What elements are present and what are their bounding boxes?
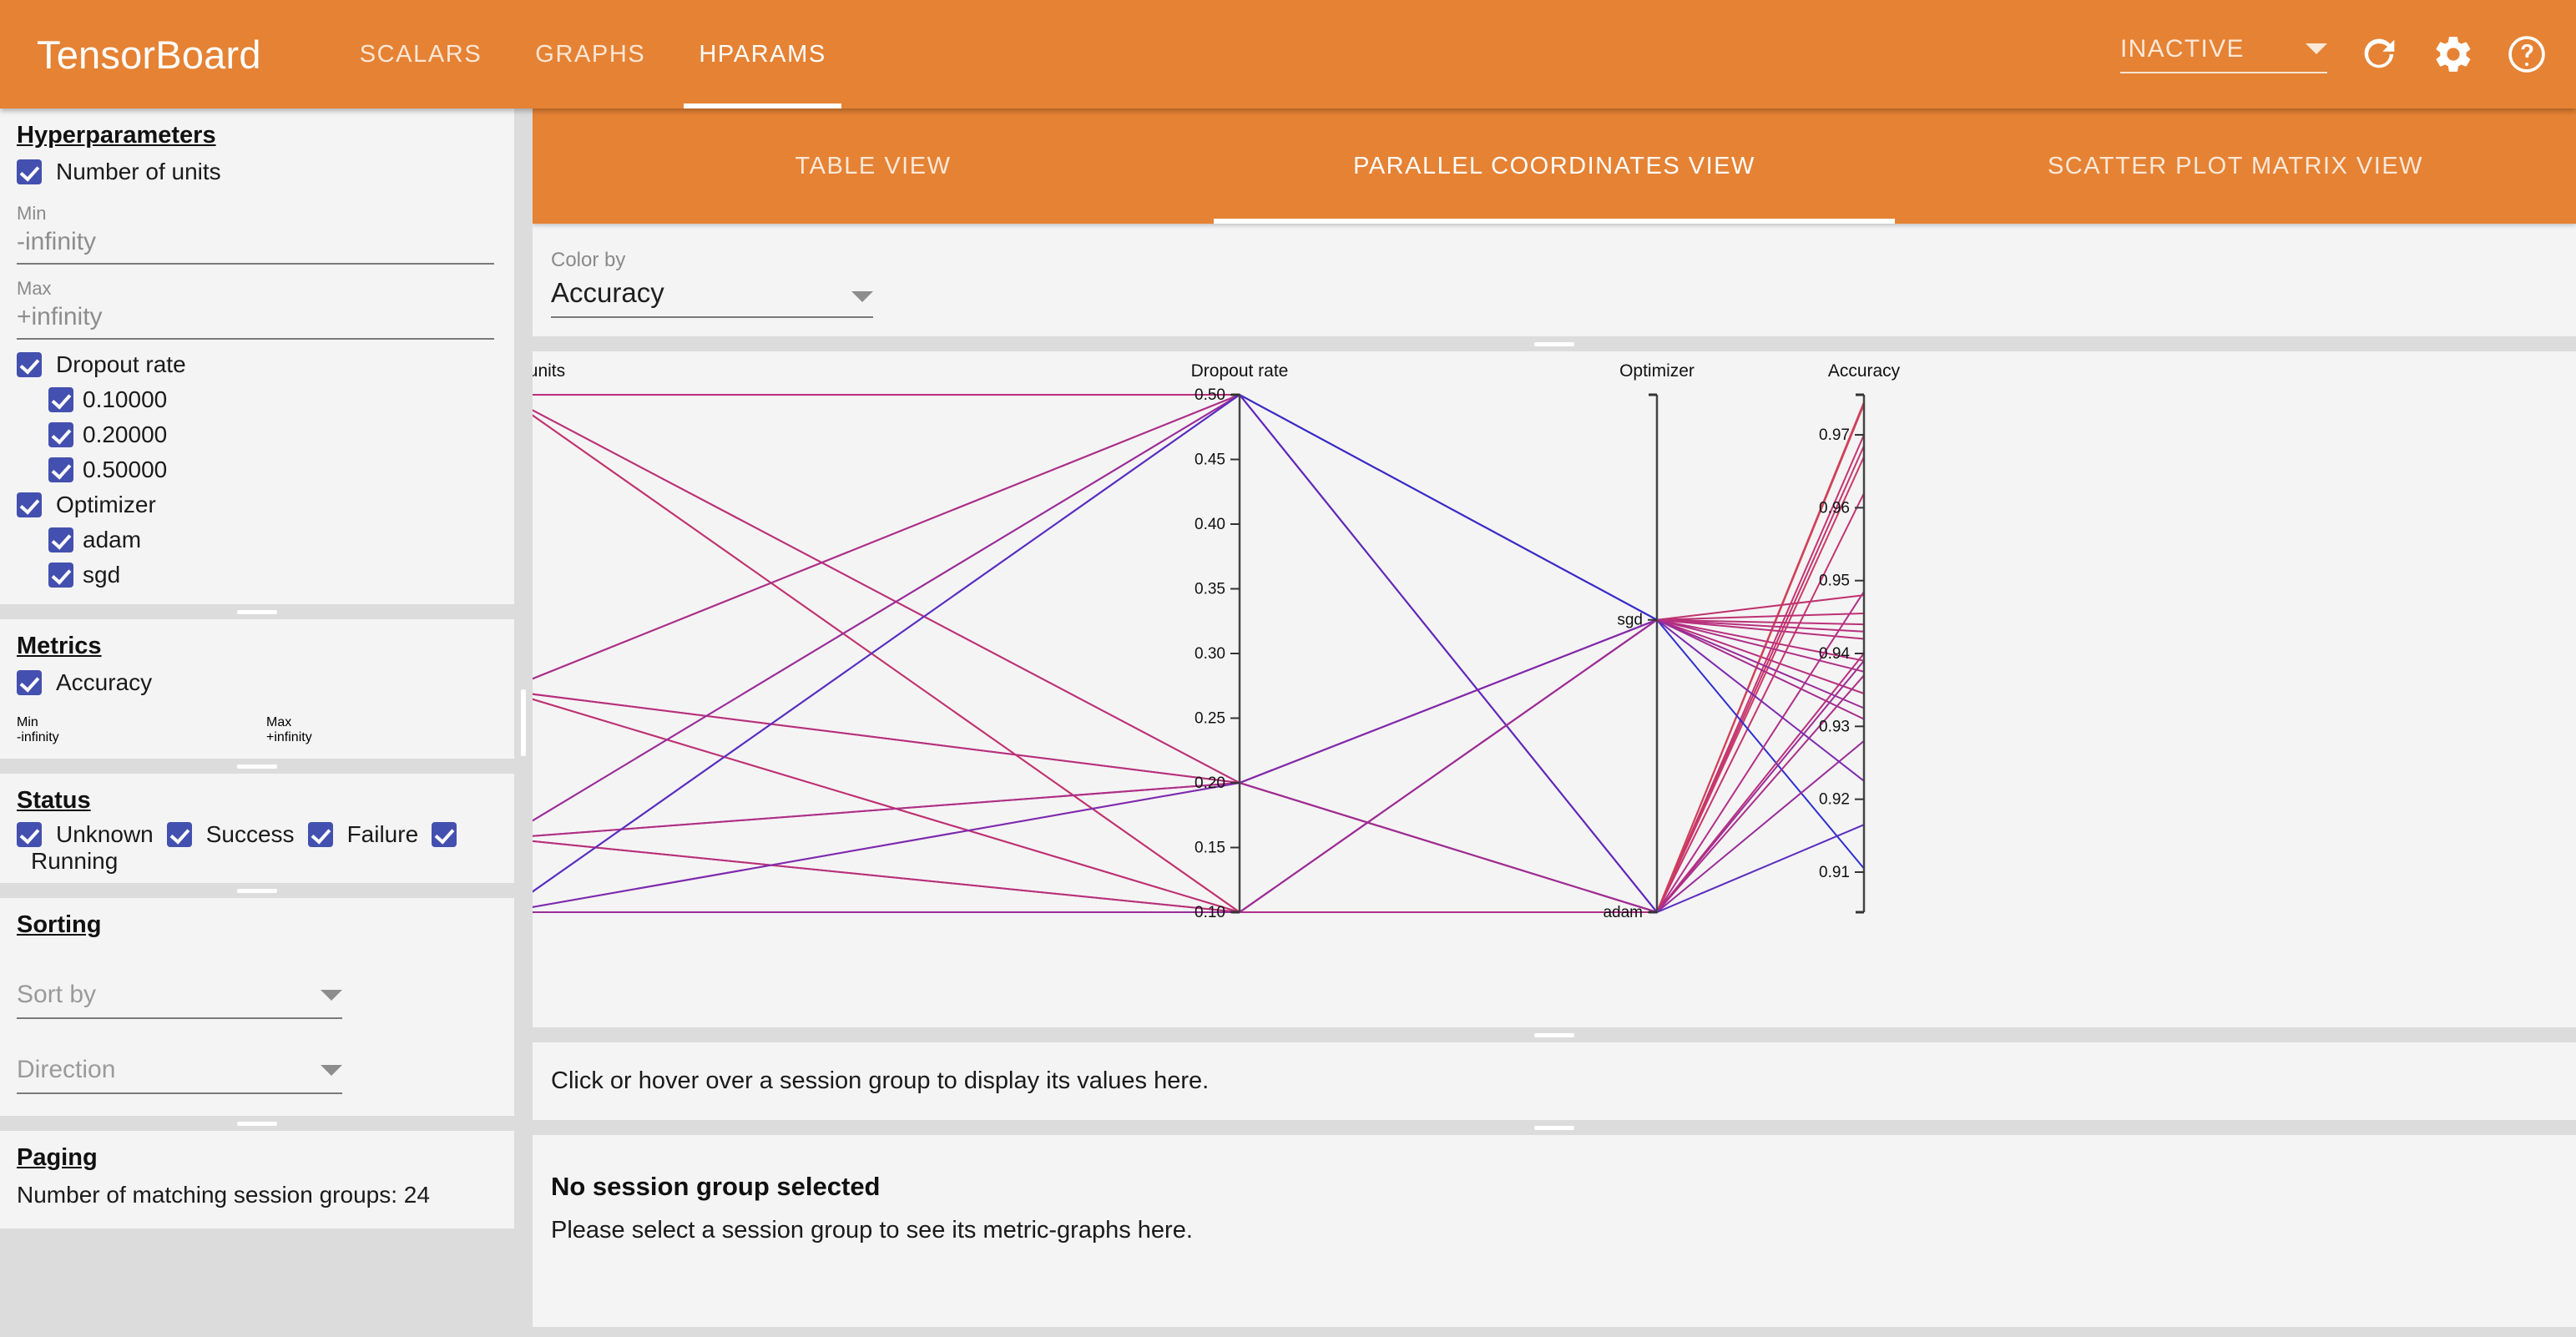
dropout-value-row[interactable]: 0.50000 [0, 452, 514, 487]
checkbox-optimizer-adam[interactable] [48, 527, 73, 552]
run-state-value: INACTIVE [2120, 35, 2245, 63]
dropout-value-row[interactable]: 0.10000 [0, 382, 514, 417]
hyperparameters-card: Hyperparameters Number of units Min -inf… [0, 108, 514, 604]
svg-text:sgd: sgd [1617, 612, 1643, 629]
min-label: Min [17, 203, 494, 225]
svg-text:0.97: 0.97 [1819, 426, 1850, 444]
number-of-units-min-field[interactable]: Min -infinity [0, 189, 514, 265]
metric-max-field[interactable]: Max +infinity [266, 715, 494, 745]
metric-graphs-resizer[interactable] [533, 1120, 2576, 1135]
app-brand: TensorBoard [37, 32, 261, 78]
number-of-units-max-field[interactable]: Max +infinity [0, 265, 514, 340]
svg-text:0.35: 0.35 [1195, 581, 1225, 598]
sidebar-resizer-sorting[interactable] [0, 1116, 514, 1131]
paging-card: Paging Number of matching session groups… [0, 1131, 514, 1229]
metric-accuracy-row[interactable]: Accuracy [0, 665, 514, 700]
gear-icon[interactable] [2429, 30, 2478, 78]
no-session-group-title: No session group selected [551, 1172, 2576, 1202]
metrics-card: Metrics Accuracy Min -infinity Max +infi… [0, 619, 514, 759]
hparam-number-of-units-row[interactable]: Number of units [0, 154, 514, 189]
sort-direction-value: Direction [17, 1056, 115, 1084]
status-label-failure: Failure [347, 821, 419, 848]
color-by-control: Color by Accuracy [533, 224, 2576, 336]
chevron-down-icon [321, 990, 342, 1001]
svg-text:0.25: 0.25 [1195, 710, 1225, 728]
color-by-value: Accuracy [551, 277, 664, 309]
hover-hint-text: Click or hover over a session group to d… [533, 1042, 2576, 1120]
metric-range-fields: Min -infinity Max +infinity [0, 700, 514, 747]
svg-text:Accuracy: Accuracy [1828, 361, 1901, 381]
no-session-group-body: Please select a session group to see its… [551, 1217, 2576, 1244]
no-session-group-selected: No session group selected Please select … [533, 1135, 2576, 1244]
max-value[interactable]: +infinity [266, 730, 494, 745]
svg-text:0.94: 0.94 [1819, 645, 1850, 663]
tensorboard-app: TensorBoard SCALARS GRAPHS HPARAMS INACT… [0, 0, 2576, 1337]
svg-text:0.10: 0.10 [1195, 904, 1225, 921]
svg-text:0.20: 0.20 [1195, 774, 1225, 792]
checkbox-dropout-0-50000[interactable] [48, 457, 73, 482]
chevron-down-icon [321, 1065, 342, 1076]
hparam-optimizer-row[interactable]: Optimizer [0, 487, 514, 522]
left-sidebar: Hyperparameters Number of units Min -inf… [0, 108, 514, 1337]
paging-title: Paging [0, 1131, 514, 1177]
sidebar-main-resizer[interactable] [514, 108, 533, 1337]
hparam-label-number-of-units: Number of units [56, 159, 221, 185]
nav-tab-scalars[interactable]: SCALARS [333, 0, 509, 108]
min-value[interactable]: -infinity [17, 730, 245, 745]
checkbox-dropout-0-20000[interactable] [48, 422, 73, 447]
nav-tab-hparams[interactable]: HPARAMS [672, 0, 852, 108]
hover-panel-resizer[interactable] [533, 1027, 2576, 1042]
checkbox-status-failure[interactable] [308, 822, 333, 847]
chevron-down-icon [851, 291, 873, 302]
svg-text:0.40: 0.40 [1195, 516, 1225, 533]
hyperparameters-title: Hyperparameters [0, 108, 514, 154]
svg-text:adam: adam [1603, 904, 1643, 921]
svg-text:0.30: 0.30 [1195, 645, 1225, 663]
hparam-label-optimizer: Optimizer [56, 492, 156, 518]
tab-table-view[interactable]: TABLE VIEW [533, 108, 1214, 224]
sort-by-value: Sort by [17, 981, 96, 1009]
checkbox-status-unknown[interactable] [17, 822, 42, 847]
svg-text:0.50: 0.50 [1195, 386, 1225, 404]
session-group-line[interactable] [533, 620, 1864, 912]
min-label: Min [17, 715, 245, 730]
metric-min-field[interactable]: Min -infinity [17, 715, 245, 745]
checkbox-dropout-0-10000[interactable] [48, 387, 73, 412]
optimizer-value-label: adam [83, 527, 141, 553]
svg-text:0.91: 0.91 [1819, 864, 1850, 881]
metrics-title: Metrics [0, 619, 514, 665]
svg-text:0.15: 0.15 [1195, 840, 1225, 857]
checkbox-dropout-rate[interactable] [17, 352, 42, 377]
max-label: Max [17, 278, 494, 300]
tab-scatter-plot-matrix-view[interactable]: SCATTER PLOT MATRIX VIEW [1895, 108, 2576, 224]
checkbox-optimizer[interactable] [17, 492, 42, 517]
optimizer-value-label: sgd [83, 562, 120, 588]
max-label: Max [266, 715, 494, 730]
view-tabs: TABLE VIEW PARALLEL COORDINATES VIEW SCA… [533, 108, 2576, 224]
sidebar-resizer-hyperparameters[interactable] [0, 604, 514, 619]
main-content: TABLE VIEW PARALLEL COORDINATES VIEW SCA… [533, 108, 2576, 1337]
optimizer-value-row[interactable]: adam [0, 522, 514, 558]
chevron-down-icon [2306, 43, 2327, 54]
session-values-panel: Click or hover over a session group to d… [533, 1042, 2576, 1120]
parallel-coordinates-svg[interactable]: Number of units2030405060708090100110120… [533, 351, 2576, 1027]
hparam-dropout-rate-row[interactable]: Dropout rate [0, 340, 514, 382]
checkbox-number-of-units[interactable] [17, 159, 42, 184]
checkbox-metric-accuracy[interactable] [17, 670, 42, 695]
refresh-icon[interactable] [2356, 30, 2404, 78]
run-state-selector[interactable]: INACTIVE [2120, 35, 2327, 73]
svg-text:Optimizer: Optimizer [1619, 361, 1695, 381]
session-group-line[interactable] [533, 620, 1864, 783]
sorting-title: Sorting [0, 898, 514, 944]
metric-label-accuracy: Accuracy [56, 669, 152, 696]
checkbox-optimizer-sgd[interactable] [48, 563, 73, 588]
nav-tab-graphs[interactable]: GRAPHS [508, 0, 672, 108]
svg-text:Dropout rate: Dropout rate [1191, 361, 1289, 381]
status-checkbox-row: Unknown Success Failure Running [0, 820, 514, 875]
help-icon[interactable] [2503, 30, 2551, 78]
status-title: Status [0, 774, 514, 820]
hparam-label-dropout-rate: Dropout rate [56, 351, 186, 378]
sorting-card: Sorting Sort by Direction [0, 898, 514, 1116]
tab-parallel-coordinates-view[interactable]: PARALLEL COORDINATES VIEW [1214, 108, 1895, 224]
dropout-value-row[interactable]: 0.20000 [0, 417, 514, 452]
max-value[interactable]: +infinity [17, 303, 494, 340]
session-group-line[interactable] [533, 620, 1864, 912]
svg-text:0.96: 0.96 [1819, 499, 1850, 517]
dropout-value-label: 0.20000 [83, 421, 167, 448]
status-card: Status Unknown Success Failure Running [0, 774, 514, 883]
color-by-select[interactable]: Accuracy [551, 277, 873, 318]
color-by-label: Color by [551, 249, 2576, 272]
svg-text:Number of units: Number of units [533, 361, 565, 381]
checkbox-status-success[interactable] [167, 822, 192, 847]
sort-by-select[interactable]: Sort by [17, 981, 342, 1019]
sidebar-resizer-status[interactable] [0, 883, 514, 898]
chart-top-resizer[interactable] [533, 336, 2576, 351]
checkbox-status-running[interactable] [432, 822, 457, 847]
svg-text:0.92: 0.92 [1819, 791, 1850, 809]
dropout-value-label: 0.50000 [83, 457, 167, 483]
sort-direction-select[interactable]: Direction [17, 1056, 342, 1094]
svg-text:0.93: 0.93 [1819, 718, 1850, 735]
status-label-running: Running [31, 848, 118, 875]
metric-graphs-panel: No session group selected Please select … [533, 1135, 2576, 1327]
top-app-bar: TensorBoard SCALARS GRAPHS HPARAMS INACT… [0, 0, 2576, 108]
dropout-value-label: 0.10000 [83, 386, 167, 413]
optimizer-value-row[interactable]: sgd [0, 558, 514, 593]
color-by-panel: Color by Accuracy [533, 224, 2576, 336]
svg-text:0.95: 0.95 [1819, 573, 1850, 590]
status-label-success: Success [206, 821, 295, 848]
sidebar-resizer-metrics[interactable] [0, 759, 514, 774]
min-value[interactable]: -infinity [17, 228, 494, 265]
primary-nav-tabs: SCALARS GRAPHS HPARAMS [333, 0, 853, 108]
matching-session-groups-count: Number of matching session groups: 24 [0, 1177, 514, 1217]
parallel-coordinates-chart[interactable]: Number of units2030405060708090100110120… [533, 351, 2576, 1027]
session-group-line[interactable] [533, 620, 1864, 912]
status-label-unknown: Unknown [56, 821, 154, 848]
svg-text:0.45: 0.45 [1195, 452, 1225, 469]
